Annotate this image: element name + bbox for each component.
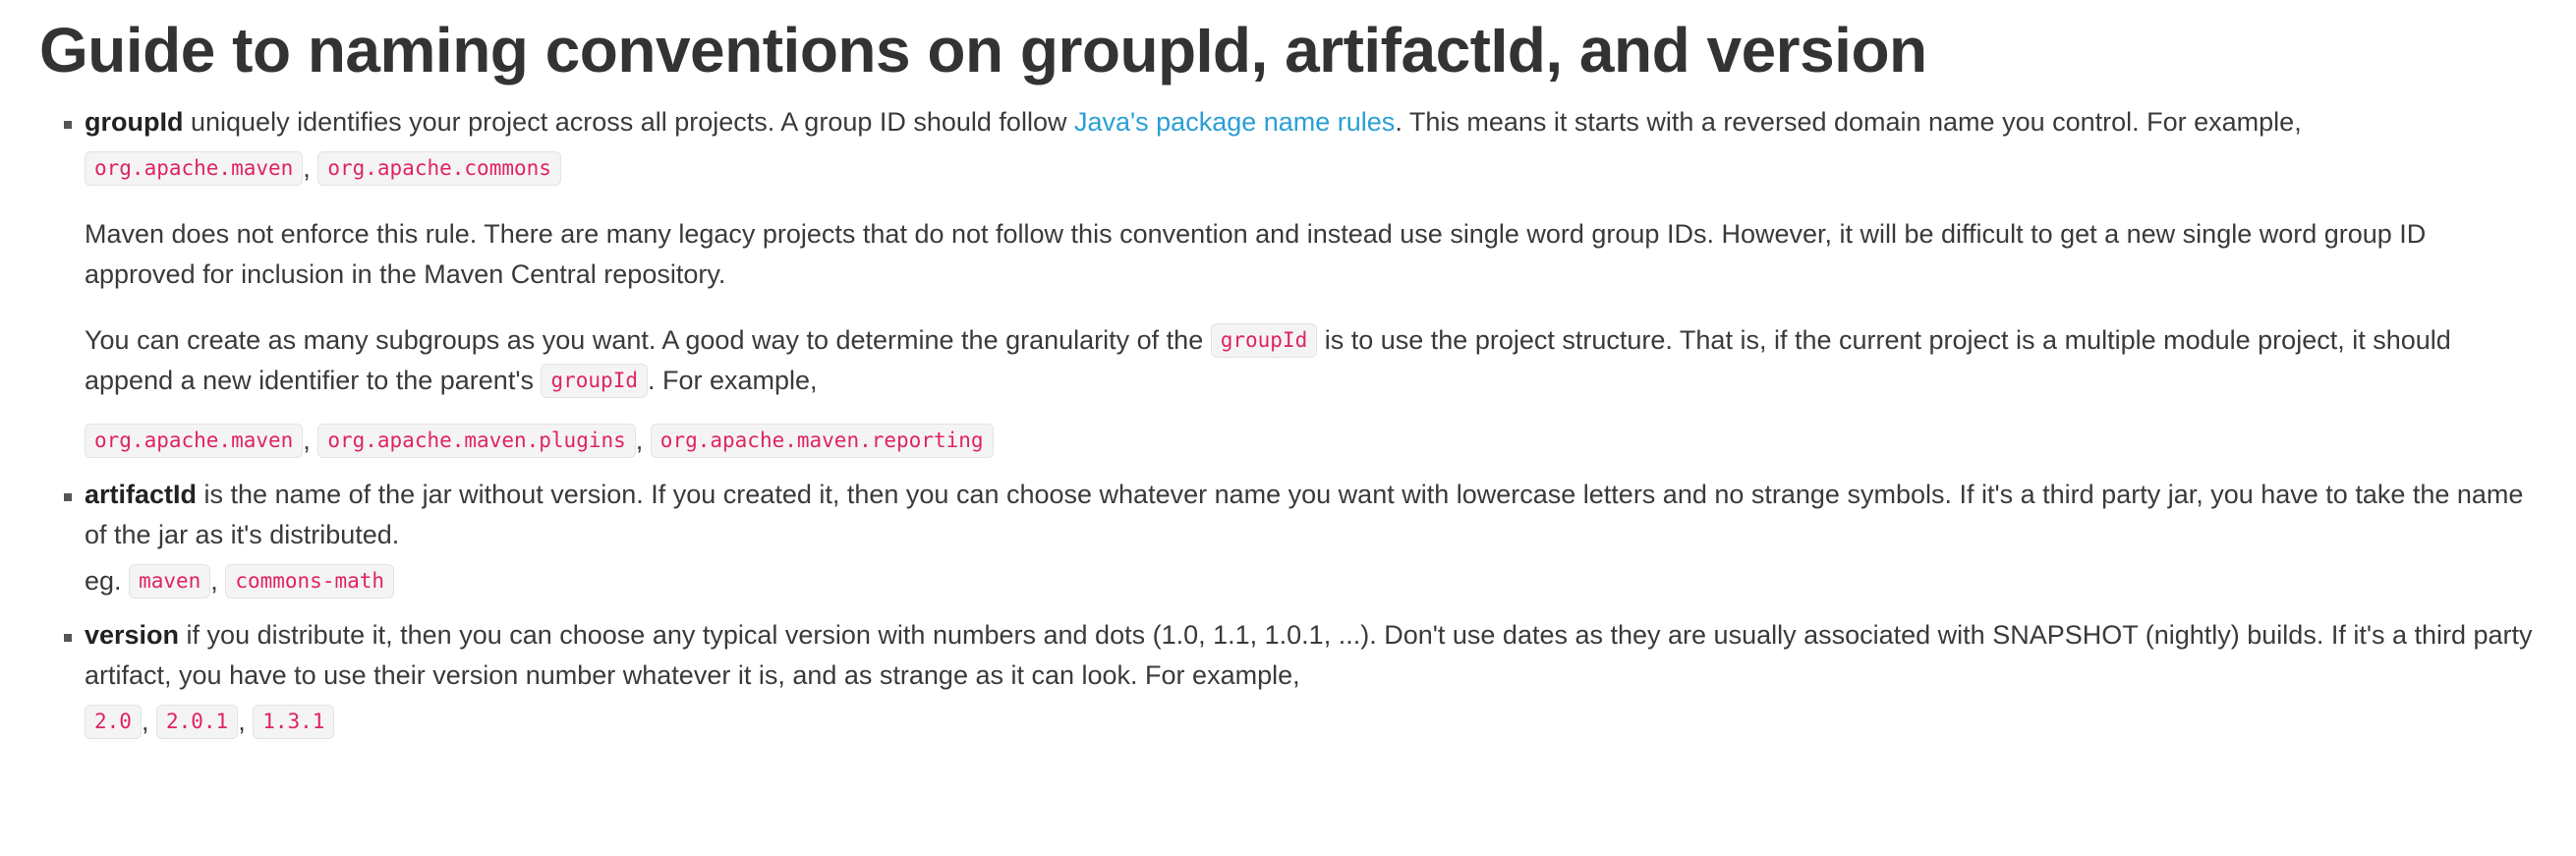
list-item-groupid: groupId uniquely identifies your project… [39,102,2543,461]
chip-separator: , [238,707,246,736]
chip-separator: , [303,426,311,455]
groupid-intro-before-link: uniquely identifies your project across … [183,107,1073,137]
term-groupid: groupId [85,107,183,137]
chip-separator: , [210,566,218,596]
code-chip: commons-math [225,564,394,599]
code-chip: 2.0.1 [156,705,238,739]
list-item-version: version if you distribute it, then you c… [39,615,2543,742]
version-paragraph: version if you distribute it, then you c… [85,615,2543,696]
code-chip: 1.3.1 [253,705,334,739]
java-package-name-rules-link[interactable]: Java's package name rules [1074,107,1395,137]
term-artifactid: artifactId [85,480,197,509]
code-chip-groupid-inline-1: groupId [1211,323,1318,358]
groupid-intro-after-link: . This means it starts with a reversed d… [1395,107,2301,137]
code-chip: org.apache.maven.reporting [651,424,994,458]
code-chip: org.apache.maven.plugins [317,424,635,458]
groupid-examples-row-1: org.apache.maven, org.apache.commons [85,148,2543,189]
chip-separator: , [142,707,149,736]
code-chip-groupid-inline-2: groupId [541,364,648,398]
code-chip: org.apache.maven [85,424,303,458]
list-item-artifactid: artifactId is the name of the jar withou… [39,475,2543,601]
page-title: Guide to naming conventions on groupId, … [39,14,2543,88]
chip-separator: , [303,153,311,183]
groupid-p3-part-3: . For example, [648,366,818,395]
code-chip: org.apache.commons [317,151,561,186]
groupid-examples-row-2: org.apache.maven, org.apache.maven.plugi… [85,421,2543,461]
artifactid-paragraph: artifactId is the name of the jar withou… [85,475,2543,555]
term-version: version [85,620,179,650]
naming-conventions-list: groupId uniquely identifies your project… [39,102,2543,742]
groupid-p3-part-1: You can create as many subgroups as you … [85,325,1211,355]
code-chip: 2.0 [85,705,142,739]
artifactid-text: is the name of the jar without version. … [85,480,2523,549]
version-examples-row: 2.0, 2.0.1, 1.3.1 [85,702,2543,742]
groupid-paragraph-3: You can create as many subgroups as you … [85,320,2543,401]
code-chip: maven [129,564,210,599]
groupid-paragraph-2: Maven does not enforce this rule. There … [85,214,2543,295]
artifactid-examples-row: eg. maven, commons-math [85,561,2543,601]
artifactid-eg-label: eg. [85,566,122,596]
document-page: Guide to naming conventions on groupId, … [0,0,2576,742]
code-chip: org.apache.maven [85,151,303,186]
version-text: if you distribute it, then you can choos… [85,620,2533,690]
chip-separator: , [636,426,644,455]
groupid-intro-paragraph: groupId uniquely identifies your project… [85,102,2543,143]
